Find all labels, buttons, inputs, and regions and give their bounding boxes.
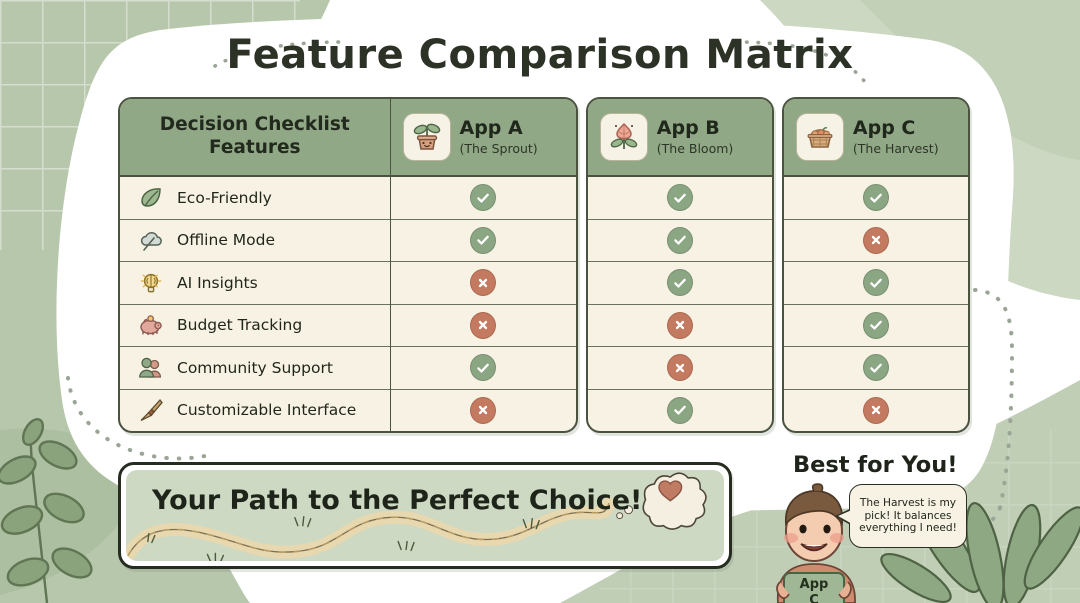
cell-appB-ai-insights[interactable] [588,262,772,305]
speech-bubble-text: The Harvest is my pick! It balances ever… [857,497,959,536]
cell-appC-customizable-interface[interactable] [784,390,968,432]
appB-header[interactable]: App B (The Bloom) [588,99,772,177]
cell-appC-offline-mode[interactable] [784,220,968,263]
appB-column: App B (The Bloom) [586,97,774,433]
cell-appB-budget-tracking[interactable] [588,305,772,348]
cell-appC-ai-insights[interactable] [784,262,968,305]
page-title-row: Feature Comparison Matrix [0,24,1080,86]
banner-headline: Your Path to the Perfect Choice! [152,485,642,516]
tablet-line1: App [800,577,829,592]
path-banner: Your Path to the Perfect Choice! [118,462,732,569]
check-icon [863,269,889,296]
check-icon [470,354,496,381]
feature-label: Customizable Interface [177,401,356,419]
feature-row-eco-friendly[interactable]: Eco-Friendly [120,177,390,220]
feature-label: Budget Tracking [177,316,302,334]
cell-appC-budget-tracking[interactable] [784,305,968,348]
check-icon [863,184,889,211]
feature-column-header: Decision Checklist Features [120,99,390,177]
app-subtitle: (The Sprout) [460,142,538,155]
feature-row-community-support[interactable]: Community Support [120,347,390,390]
appA-header[interactable]: App A (The Sprout) [391,99,576,177]
feature-label: Community Support [177,359,333,377]
appA-column: App A (The Sprout) [391,99,576,431]
feature-row-offline-mode[interactable]: Offline Mode [120,220,390,263]
cross-icon [667,312,693,339]
cell-appA-customizable-interface[interactable] [391,390,576,432]
cell-appB-community-support[interactable] [588,347,772,390]
check-icon [863,354,889,381]
cross-icon [470,269,496,296]
app-subtitle: (The Harvest) [853,142,939,155]
cell-appA-community-support[interactable] [391,347,576,390]
app-name: App B [657,119,734,139]
feature-label: Eco-Friendly [177,189,272,207]
speech-bubble: The Harvest is my pick! It balances ever… [849,484,967,548]
people-group-icon [138,355,164,381]
cross-icon [470,397,496,424]
feature-label: AI Insights [177,274,258,292]
cell-appA-offline-mode[interactable] [391,220,576,263]
cell-appA-ai-insights[interactable] [391,262,576,305]
app-name: App C [853,119,939,139]
app-name: App A [460,119,538,139]
best-for-you-heading: Best for You! [793,452,958,478]
tulip-flower-icon [600,113,648,161]
cell-appA-eco-friendly[interactable] [391,177,576,220]
cross-icon [863,397,889,424]
cross-icon [863,227,889,254]
paintbrush-icon [138,397,164,423]
check-icon [667,269,693,296]
cell-appC-community-support[interactable] [784,347,968,390]
piggy-bank-icon [138,312,164,338]
harvest-basket-icon [796,113,844,161]
check-icon [863,312,889,339]
feature-label: Offline Mode [177,231,275,249]
cloud-offline-icon [138,227,164,253]
cell-appB-offline-mode[interactable] [588,220,772,263]
seedling-pot-icon [403,113,451,161]
feature-name-column: Decision Checklist Features Eco-Friendly… [120,99,391,431]
appC-column: App C (The Harvest) [782,97,970,433]
speech-bubble-tail [838,509,854,525]
cell-appB-customizable-interface[interactable] [588,390,772,432]
check-icon [470,184,496,211]
appC-header[interactable]: App C (The Harvest) [784,99,968,177]
check-icon [470,227,496,254]
page-title: Feature Comparison Matrix [226,32,853,78]
feature-comparison-matrix: Decision Checklist Features Eco-Friendly… [118,97,970,433]
lightbulb-brain-icon [138,270,164,296]
app-subtitle: (The Bloom) [657,142,734,155]
path-banner-inner: Your Path to the Perfect Choice! [126,470,724,561]
cell-appC-eco-friendly[interactable] [784,177,968,220]
cross-icon [470,312,496,339]
feature-header-line2: Features [160,137,350,160]
features-and-appA-card: Decision Checklist Features Eco-Friendly… [118,97,578,433]
leaf-icon [138,185,164,211]
check-icon [667,397,693,424]
check-icon [667,227,693,254]
feature-row-customizable-interface[interactable]: Customizable Interface [120,390,390,432]
cell-appA-budget-tracking[interactable] [391,305,576,348]
cross-icon [667,354,693,381]
tablet-line2: C [809,593,819,603]
check-icon [667,184,693,211]
feature-header-line1: Decision Checklist [160,114,350,137]
feature-row-budget-tracking[interactable]: Budget Tracking [120,305,390,348]
feature-row-ai-insights[interactable]: AI Insights [120,262,390,305]
cell-appB-eco-friendly[interactable] [588,177,772,220]
